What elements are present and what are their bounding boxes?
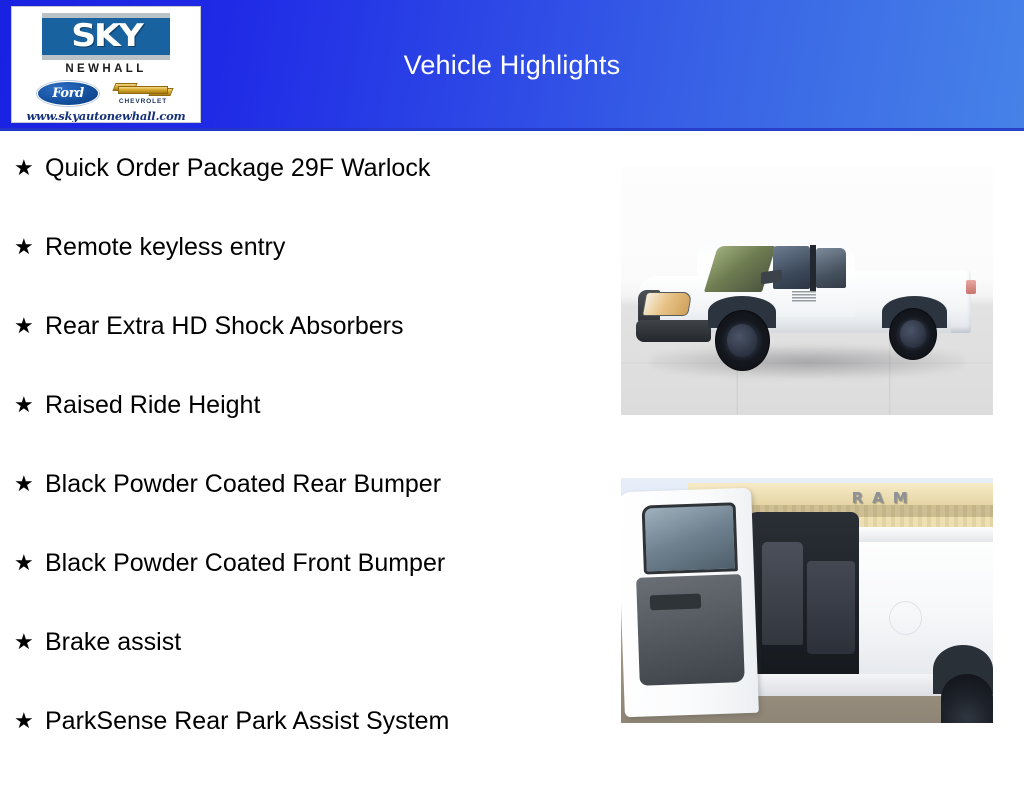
list-item-label: Raised Ride Height xyxy=(45,390,260,420)
list-item: ★ Quick Order Package 29F Warlock xyxy=(0,153,600,232)
star-bullet-icon: ★ xyxy=(14,153,45,183)
chevrolet-wordmark: CHEVROLET xyxy=(119,99,167,106)
truck-front-seat xyxy=(762,542,803,645)
logo-location-text: NEWHALL xyxy=(65,64,146,76)
truck-fuel-door xyxy=(889,601,922,635)
list-item-label: Black Powder Coated Front Bumper xyxy=(45,548,445,578)
sky-brand-text: SKY xyxy=(71,21,141,52)
truck-front-window xyxy=(773,246,811,289)
list-item-label: ParkSense Rear Park Assist System xyxy=(45,706,449,736)
list-item: ★ Black Powder Coated Front Bumper xyxy=(0,548,600,627)
truck-taillight xyxy=(966,280,976,294)
door-window xyxy=(642,502,738,575)
truck-rear-wheel xyxy=(941,674,993,723)
list-item: ★ ParkSense Rear Park Assist System xyxy=(0,706,600,785)
star-bullet-icon: ★ xyxy=(14,469,45,499)
star-bullet-icon: ★ xyxy=(14,627,45,657)
list-item-label: Quick Order Package 29F Warlock xyxy=(45,153,430,183)
star-bullet-icon: ★ xyxy=(14,232,45,262)
vehicle-photo-interior[interactable]: RAM LIFET xyxy=(621,478,993,723)
ram-sign-text: RAM xyxy=(852,485,978,512)
truck-open-door xyxy=(621,488,759,718)
list-item-label: Black Powder Coated Rear Bumper xyxy=(45,469,441,499)
list-item: ★ Black Powder Coated Rear Bumper xyxy=(0,469,600,548)
truck-front-wheel xyxy=(715,310,770,370)
truck-rear-seat xyxy=(807,561,855,654)
list-item-label: Remote keyless entry xyxy=(45,232,285,262)
list-item: ★ Remote keyless entry xyxy=(0,232,600,311)
logo-brand-row: Ford CHEVROLET xyxy=(12,81,200,106)
door-interior-panel xyxy=(636,574,744,686)
truck-exterior-illustration xyxy=(636,234,978,373)
list-item: ★ Raised Ride Height xyxy=(0,390,600,469)
chevrolet-logo-icon: CHEVROLET xyxy=(111,81,175,106)
list-item: ★ Brake assist xyxy=(0,627,600,706)
truck-rocker-panel xyxy=(747,674,940,696)
chevrolet-bowtie-icon xyxy=(114,81,172,98)
truck-front-bumper xyxy=(636,320,711,342)
list-item-label: Brake assist xyxy=(45,627,181,657)
star-bullet-icon: ★ xyxy=(14,311,45,341)
list-item-label: Rear Extra HD Shock Absorbers xyxy=(45,311,403,341)
ford-logo-icon: Ford xyxy=(37,81,99,106)
dealership-url: www.skyautonewhall.com xyxy=(26,111,185,123)
page-header: Vehicle Highlights SKY NEWHALL Ford CHEV… xyxy=(0,0,1024,131)
vehicle-highlights-list: ★ Quick Order Package 29F Warlock ★ Remo… xyxy=(0,131,600,768)
door-armrest-handle xyxy=(650,593,701,611)
truck-bed-rail xyxy=(852,527,993,542)
truck-rear-wheel xyxy=(889,308,937,360)
sky-plate-icon: SKY xyxy=(42,13,170,60)
truck-rear-window xyxy=(816,248,847,288)
truck-ram-badge xyxy=(792,291,816,302)
truck-headlight xyxy=(642,292,693,316)
list-item: ★ Rear Extra HD Shock Absorbers xyxy=(0,311,600,390)
star-bullet-icon: ★ xyxy=(14,548,45,578)
star-bullet-icon: ★ xyxy=(14,706,45,736)
vehicle-photo-exterior[interactable] xyxy=(621,167,993,415)
dealership-logo[interactable]: SKY NEWHALL Ford CHEVROLET www.skyautone… xyxy=(11,6,201,123)
ford-wordmark: Ford xyxy=(52,87,84,100)
star-bullet-icon: ★ xyxy=(14,390,45,420)
